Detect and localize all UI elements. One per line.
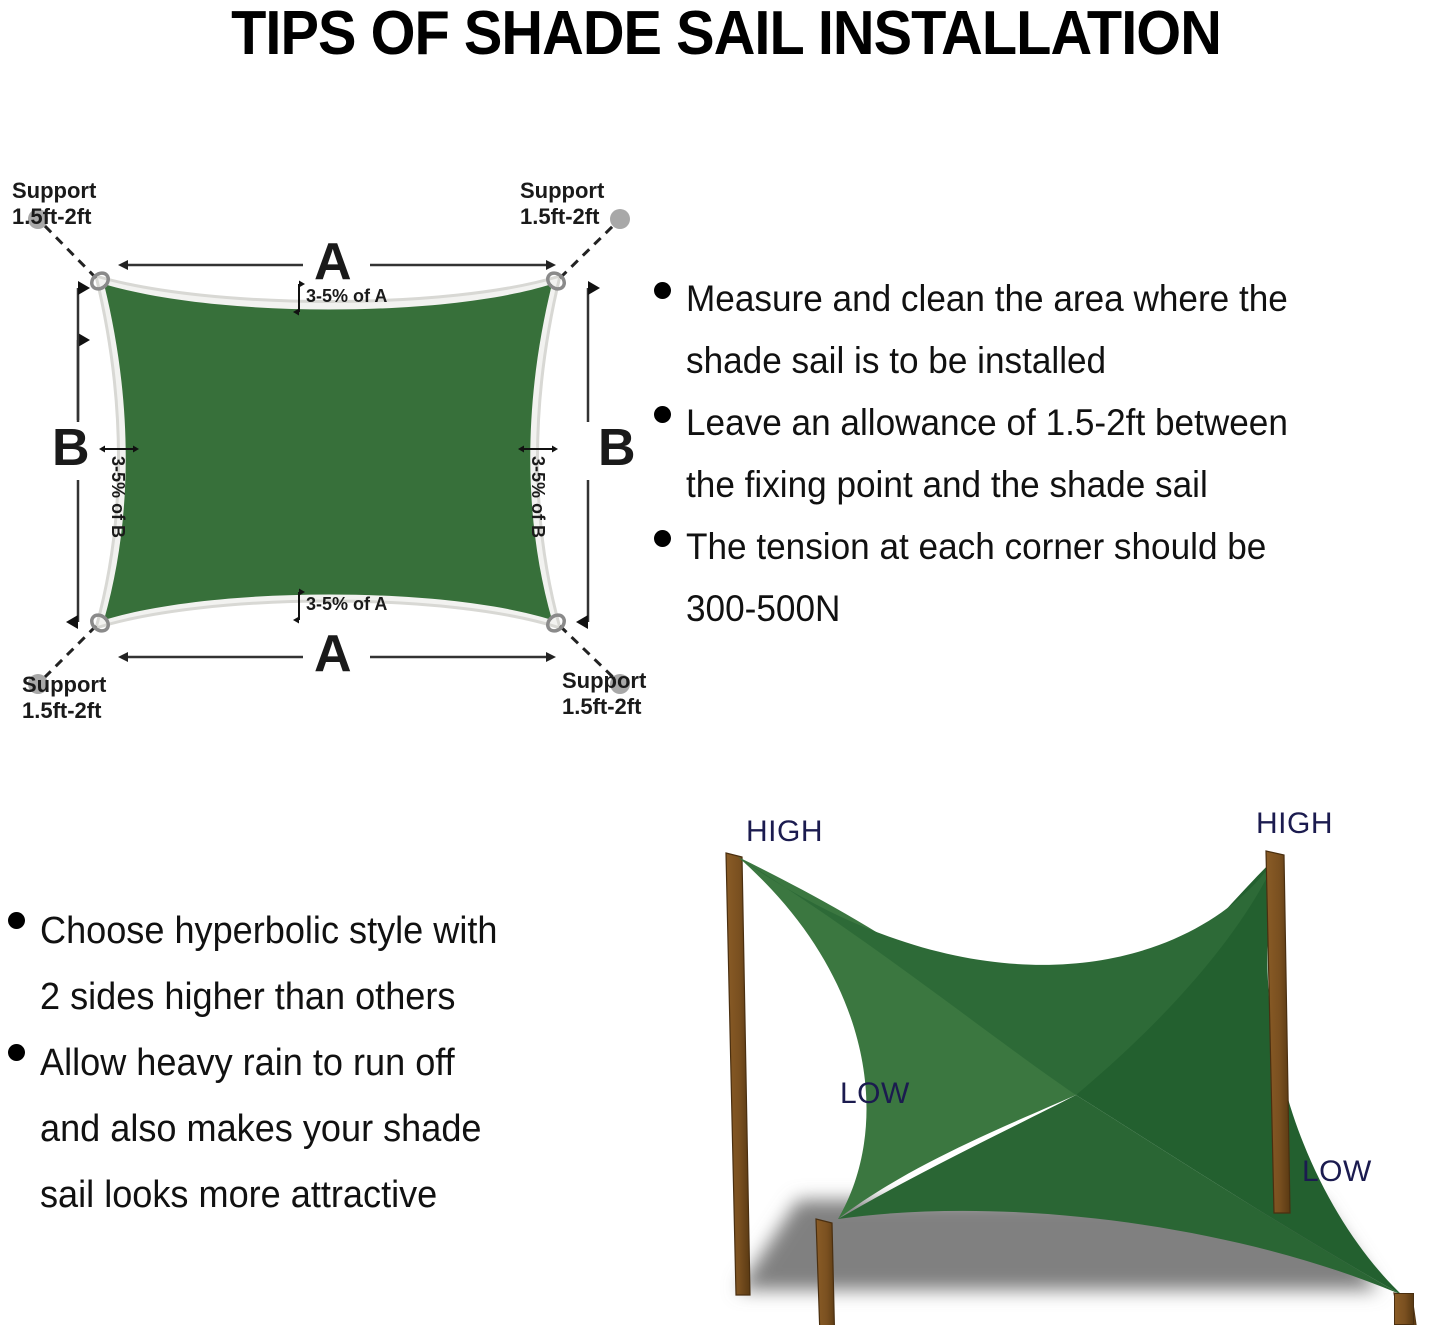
label-high-right: HIGH [1256,807,1333,841]
support-label-top-left: Support 1.5ft-2ft [12,178,96,230]
support-label-top-right: Support 1.5ft-2ft [520,178,604,230]
tips-list-right: Measure and clean the area where the sha… [654,268,1452,640]
page-title: TIPS OF SHADE SAIL INSTALLATION [51,0,1401,70]
infographic-page: TIPS OF SHADE SAIL INSTALLATION [0,0,1452,1325]
sag-label-top: 3-5% of A [306,286,387,307]
sag-label-right: 3-5% of B [527,456,548,538]
list-item-line: Choose hyperbolic style with [40,898,497,964]
list-item-line: and also makes your shade [40,1096,481,1162]
label-high-left: HIGH [746,815,823,849]
label-low-left: LOW [840,1077,910,1111]
hyperbolic-sail-diagram: HIGH HIGH LOW LOW [678,795,1452,1325]
list-item-line: shade sail is to be installed [686,330,1288,392]
hyperbolic-sail-svg [678,795,1452,1325]
support-label-bottom-right-line1: Support [562,668,646,694]
list-item: Measure and clean the area where the sha… [654,268,1452,392]
dimension-letter-a-top: A [314,232,352,292]
list-item-text: Leave an allowance of 1.5-2ft between th… [686,392,1288,516]
list-item: Leave an allowance of 1.5-2ft between th… [654,392,1452,516]
list-item-line: sail looks more attractive [40,1162,481,1228]
bullet-dot-icon [8,1044,25,1061]
support-label-top-right-line1: Support [520,178,604,204]
bullet-dot-icon [654,282,671,299]
list-item-line: The tension at each corner should be [686,516,1266,578]
list-item-line: Allow heavy rain to run off [40,1030,481,1096]
tips-list-left: Choose hyperbolic style with 2 sides hig… [8,898,628,1228]
dimension-letter-a-bottom: A [314,624,352,684]
dimension-letter-b-right: B [598,418,636,478]
support-line-top-left [42,223,96,278]
sag-label-bottom: 3-5% of A [306,594,387,615]
support-label-top-left-line1: Support [12,178,96,204]
support-label-bottom-right: Support 1.5ft-2ft [562,668,646,720]
list-item-line: Leave an allowance of 1.5-2ft between [686,392,1288,454]
support-label-bottom-left-line2: 1.5ft-2ft [22,698,106,724]
list-item: The tension at each corner should be 300… [654,516,1452,640]
support-dot-top-right [610,209,630,229]
post-high-left [726,853,750,1295]
list-item-line: 300-500N [686,578,1266,640]
list-item-line: the fixing point and the shade sail [686,454,1288,516]
list-item-line: 2 sides higher than others [40,964,497,1030]
list-item: Allow heavy rain to run off and also mak… [8,1030,628,1228]
support-line-top-right [560,223,616,278]
sag-label-left: 3-5% of B [107,456,128,538]
dimension-letter-b-left: B [52,418,90,478]
list-item-text: Choose hyperbolic style with 2 sides hig… [40,898,497,1030]
label-low-right: LOW [1302,1155,1372,1189]
support-label-bottom-left: Support 1.5ft-2ft [22,672,106,724]
support-label-bottom-right-line2: 1.5ft-2ft [562,694,646,720]
list-item: Choose hyperbolic style with 2 sides hig… [8,898,628,1030]
support-label-bottom-left-line1: Support [22,672,106,698]
list-item-text: Allow heavy rain to run off and also mak… [40,1030,481,1228]
support-label-top-right-line2: 1.5ft-2ft [520,204,604,230]
list-item-text: Measure and clean the area where the sha… [686,268,1288,392]
bullet-dot-icon [654,530,671,547]
bullet-dot-icon [654,406,671,423]
bullet-dot-icon [8,912,25,929]
shade-sail-shape [104,284,552,620]
rectangular-sail-diagram: Support 1.5ft-2ft Support 1.5ft-2ft Supp… [0,160,660,740]
list-item-text: The tension at each corner should be 300… [686,516,1266,640]
support-label-top-left-line2: 1.5ft-2ft [12,204,96,230]
list-item-line: Measure and clean the area where the [686,268,1288,330]
post-low-right-extension [1394,1293,1414,1325]
